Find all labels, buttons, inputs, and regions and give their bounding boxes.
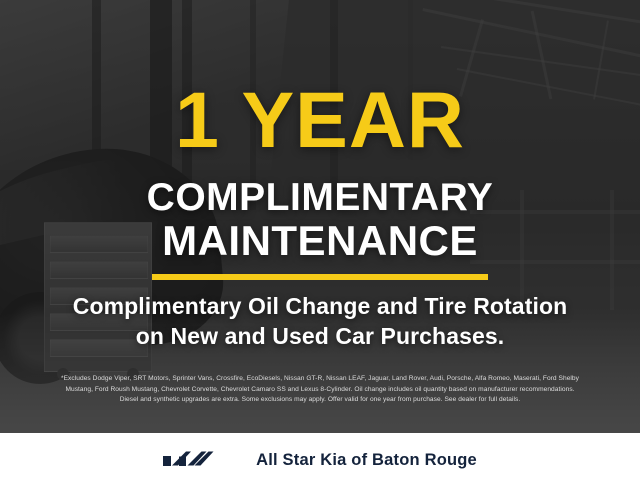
dealer-footer: All Star Kia of Baton Rouge [0, 433, 640, 488]
disclaimer-line-1: *Excludes Dodge Viper, SRT Motors, Sprin… [14, 374, 626, 385]
dealer-name: All Star Kia of Baton Rouge [256, 451, 477, 470]
promo-line-1: Complimentary Oil Change and Tire Rotati… [0, 291, 640, 321]
disclaimer-line-2: Mustang, Ford Roush Mustang, Chevrolet C… [14, 385, 626, 396]
headline-1-year: 1 YEAR [0, 84, 640, 157]
banner-content: 1 YEAR COMPLIMENTARY MAINTENANCE Complim… [0, 0, 640, 433]
kia-logo [163, 450, 237, 472]
offer-banner: 1 YEAR COMPLIMENTARY MAINTENANCE Complim… [0, 0, 640, 433]
promo-description: Complimentary Oil Change and Tire Rotati… [0, 291, 640, 352]
subhead-maintenance: MAINTENANCE [0, 220, 640, 262]
promotional-ad: 1 YEAR COMPLIMENTARY MAINTENANCE Complim… [0, 0, 640, 488]
promo-line-2: on New and Used Car Purchases. [0, 321, 640, 351]
disclaimer-text: *Excludes Dodge Viper, SRT Motors, Sprin… [14, 374, 626, 406]
disclaimer-line-3: Diesel and synthetic upgrades are extra.… [14, 395, 626, 406]
subhead-complimentary: COMPLIMENTARY [0, 178, 640, 217]
yellow-divider-rule [152, 274, 488, 280]
